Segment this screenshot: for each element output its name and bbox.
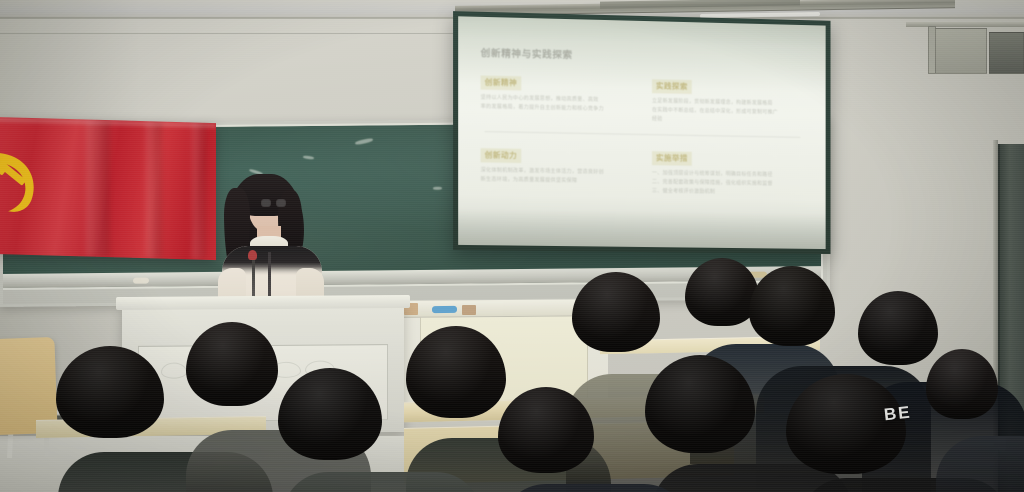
slide-section: 创新精神 坚持以人民为中心的发展思想，推动高质量、高效 率的发展格局，着力提升自… [481, 71, 636, 126]
chalk-mark [303, 155, 314, 159]
flag-fold [86, 119, 110, 257]
classroom-photo: 创新精神与实践探索 创新精神 坚持以人民为中心的发展思想，推动高质量、高效 率的… [0, 0, 1024, 492]
slide-section-heading: 实施举措 [652, 151, 692, 166]
chalk-mark [355, 138, 373, 146]
hammer-and-sickle-icon [0, 145, 48, 221]
slide-section: 实施举措 一、加强顶层设计与统筹谋划，明确目标任务和路径 二、完善配套政策与保障… [652, 147, 804, 201]
slide-body-line: 新生态环境，为高质量发展提供坚实保障 [481, 175, 636, 187]
lectern-ornament [161, 363, 187, 379]
slide-section-heading: 实践探索 [652, 79, 692, 94]
slide-section-body: 深化体制机制改革，激发市场主体活力，营造良好创 新生态环境，为高质量发展提供坚实… [481, 166, 636, 187]
projection-screen: 创新精神与实践探索 创新精神 坚持以人民为中心的发展思想，推动高质量、高效 率的… [453, 11, 830, 254]
eraser-icon[interactable] [462, 305, 476, 315]
jacket-logo-text: BE [883, 403, 913, 426]
slide-title: 创新精神与实践探索 [481, 45, 805, 67]
slide-section: 实践探索 立足新发展阶段，贯彻新发展理念，构建新发展格局 在实践中不断总结，在总… [652, 75, 804, 130]
wall-monitor-panel [989, 32, 1024, 74]
slide-body-line: 率的发展格局，着力提升自主创新能力和核心竞争力 [481, 102, 636, 114]
chalk-piece[interactable] [133, 278, 149, 284]
glasses-icon [261, 199, 287, 207]
slide-section-body: 坚持以人民为中心的发展思想，推动高质量、高效 率的发展格局，着力提升自主创新能力… [481, 93, 636, 115]
chalk-mark [433, 187, 442, 190]
slide-body-line: 三、健全考核评价激励机制 [652, 187, 804, 198]
audience-member-body [282, 472, 482, 492]
presentation-slide: 创新精神与实践探索 创新精神 坚持以人民为中心的发展思想，推动高质量、高效 率的… [466, 39, 817, 227]
slide-section: 创新动力 深化体制机制改革，激发市场主体活力，营造良好创 新生态环境，为高质量发… [481, 144, 636, 199]
flag-fold [146, 121, 162, 258]
microphone-icon [248, 250, 257, 260]
blue-marker-icon[interactable] [432, 306, 457, 313]
slide-section-body: 立足新发展阶段，贯彻新发展理念，构建新发展格局 在实践中不断总结，在总结中深化，… [652, 97, 804, 128]
wall-ledge [906, 22, 1024, 27]
slide-body-line: 经验 [652, 115, 804, 127]
projection-surface: 创新精神与实践探索 创新精神 坚持以人民为中心的发展思想，推动高质量、高效 率的… [458, 16, 825, 249]
wall-speaker-panel [935, 28, 987, 74]
party-flag [0, 117, 216, 260]
slide-section-body: 一、加强顶层设计与统筹谋划，明确目标任务和路径 二、完善配套政策与保障措施，强化… [652, 169, 804, 199]
slide-section-heading: 创新动力 [481, 148, 522, 163]
slide-section-heading: 创新精神 [481, 75, 522, 90]
flag-fold [192, 122, 206, 259]
lectern-top [116, 295, 410, 310]
screen-bottom-shade [458, 208, 825, 249]
